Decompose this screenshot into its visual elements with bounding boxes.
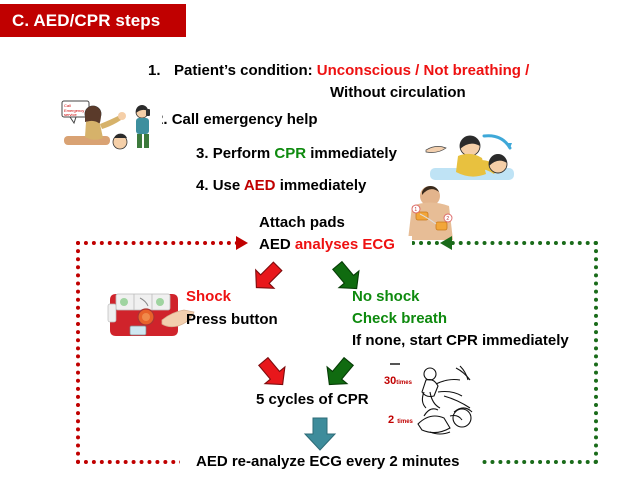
analyses-ecg-text: analyses ECG <box>295 236 395 253</box>
check-breath-label: Check breath <box>352 310 447 327</box>
press-button-label: Press button <box>186 311 278 328</box>
cycles-to-reanalyze-arrow-icon <box>300 416 340 457</box>
attach-pads-label: Attach pads <box>259 214 345 231</box>
aed-pads-photo: 1 2 <box>388 184 472 240</box>
aed-analyses-ecg-label: AED analyses ECG <box>259 236 395 253</box>
step-1-continuation: Without circulation <box>330 84 466 101</box>
no-shock-to-cycles-arrow-icon <box>322 356 356 395</box>
step-1-label: Patient’s condition: <box>174 62 313 79</box>
start-cpr-label: If none, start CPR immediately <box>352 332 569 349</box>
step-2-label: Call emergency help <box>172 111 318 128</box>
cpr-illustration <box>424 132 520 186</box>
svg-text:1: 1 <box>414 207 417 213</box>
step-1: 1.Patient’s condition: Unconscious / Not… <box>148 62 529 79</box>
no-shock-branch-arrow-icon <box>330 260 364 299</box>
step-4: 4. Use AED immediately <box>196 177 366 194</box>
step-3-pre: Perform <box>213 145 271 162</box>
shock-to-cycles-arrow-icon <box>256 356 290 395</box>
shock-loop-arrowhead-icon <box>236 236 248 250</box>
no-shock-loop-arrowhead-icon <box>440 236 452 250</box>
step-4-pre: Use <box>213 177 241 194</box>
svg-text:2: 2 <box>446 216 449 222</box>
step-1-number: 1. <box>148 62 174 79</box>
page-title: C. AED/CPR steps <box>0 4 186 37</box>
step-2: 2. Call emergency help <box>155 111 318 128</box>
step-3-post: immediately <box>310 145 397 162</box>
step-4-post: immediately <box>280 177 367 194</box>
step-1-condition: Unconscious / Not breathing / <box>317 62 530 79</box>
step-3: 3. Perform CPR immediately <box>196 145 397 162</box>
slide-canvas: C. AED/CPR steps 1.Patient’s condition: … <box>0 0 623 480</box>
step-3-highlight: CPR <box>274 145 306 162</box>
call-emergency-illustration: Call Emergency service <box>58 98 162 154</box>
step-4-highlight: AED <box>244 177 276 194</box>
step-4-number: 4. <box>196 177 209 194</box>
step-3-number: 3. <box>196 145 209 162</box>
svg-text:service: service <box>64 112 77 117</box>
shock-branch-title: Shock <box>186 288 231 305</box>
shock-branch-arrow-icon <box>250 260 284 299</box>
aed-prefix: AED <box>259 236 291 253</box>
